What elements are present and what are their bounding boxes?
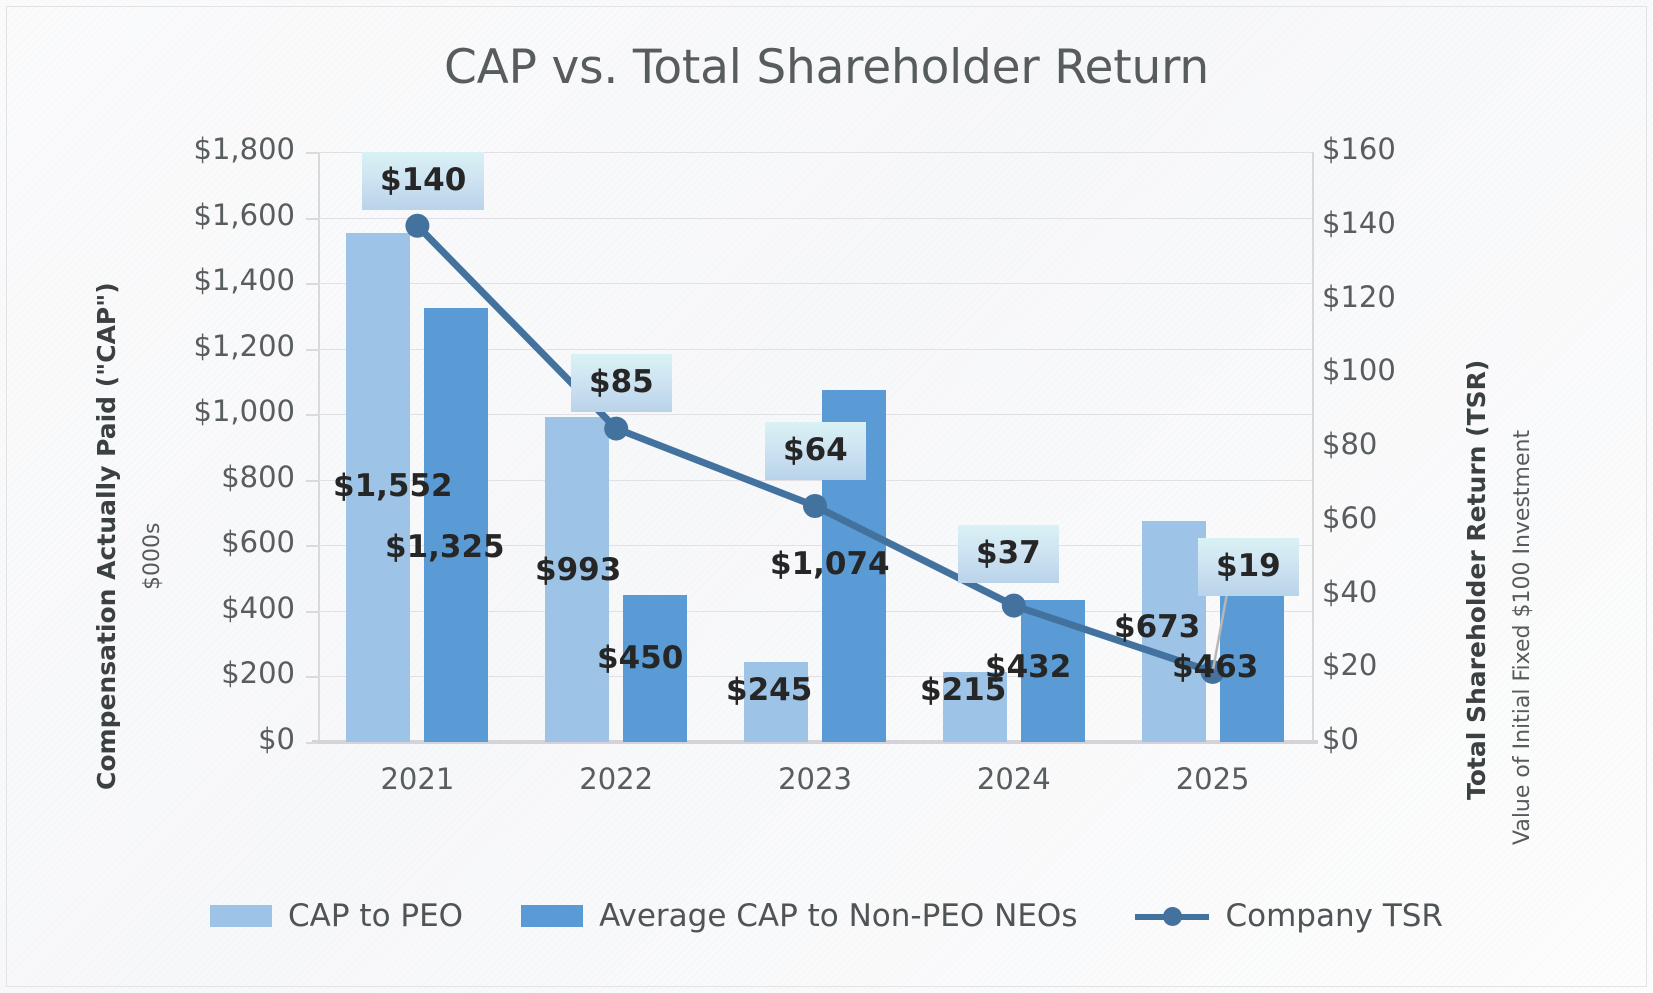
y-axis-tick xyxy=(306,218,318,220)
chart-canvas: CAP vs. Total Shareholder Return Compens… xyxy=(0,0,1653,993)
plot-right-edge xyxy=(1312,152,1314,742)
data-label-cap-to-peo: $993 xyxy=(535,552,621,588)
data-label-avg-cap-to-non-peo-neos: $1,074 xyxy=(770,546,890,582)
data-label-company-tsr: $37 xyxy=(958,525,1059,583)
legend-item-label: Company TSR xyxy=(1225,898,1442,934)
legend-swatch-cap-to-peo xyxy=(210,905,272,927)
y-axis-tick xyxy=(306,349,318,351)
legend-marker-icon xyxy=(1163,907,1182,926)
y-axis-tick-label: $1,200 xyxy=(194,329,295,363)
left-axis-subtitle: $000s xyxy=(140,523,165,590)
left-axis-title: Compensation Actually Paid ("CAP") xyxy=(92,282,121,790)
legend-item-label: CAP to PEO xyxy=(288,898,463,934)
legend-item[interactable]: Company TSR xyxy=(1135,898,1442,934)
data-label-avg-cap-to-non-peo-neos: $463 xyxy=(1172,649,1258,685)
y-axis-tick xyxy=(306,480,318,482)
tsr-data-point xyxy=(604,417,628,441)
data-label-cap-to-peo: $673 xyxy=(1114,609,1200,645)
right-axis-subtitle: Value of Initial Fixed $100 Investment xyxy=(1510,430,1535,845)
x-axis-tick-label: 2025 xyxy=(1113,762,1313,796)
legend-item[interactable]: Average CAP to Non-PEO NEOs xyxy=(521,898,1077,934)
y-axis-tick-label: $1,400 xyxy=(194,263,295,297)
data-label-company-tsr: $64 xyxy=(765,422,866,480)
data-label-avg-cap-to-non-peo-neos: $1,325 xyxy=(385,529,505,565)
data-label-cap-to-peo: $1,552 xyxy=(333,468,453,504)
x-axis-tick-label: 2023 xyxy=(715,762,915,796)
legend-item[interactable]: CAP to PEO xyxy=(210,898,463,934)
y-axis-tick-label: $200 xyxy=(221,656,295,690)
y-axis-tick xyxy=(306,611,318,613)
y-axis-tick-label: $0 xyxy=(258,722,295,756)
y2-axis-tick-label: $60 xyxy=(1322,501,1377,535)
tsr-data-point xyxy=(405,214,429,238)
y-axis-tick xyxy=(306,545,318,547)
data-label-avg-cap-to-non-peo-neos: $450 xyxy=(597,640,683,676)
data-label-company-tsr: $19 xyxy=(1198,538,1299,596)
tsr-data-point xyxy=(803,494,827,518)
x-axis-tick-label: 2021 xyxy=(317,762,517,796)
y2-axis-tick-label: $120 xyxy=(1322,280,1396,314)
y-axis-tick-label: $400 xyxy=(221,591,295,625)
y-axis-tick-label: $1,600 xyxy=(194,198,295,232)
y-axis-tick-label: $1,800 xyxy=(194,132,295,166)
y-axis-tick xyxy=(306,283,318,285)
y2-axis-tick-label: $140 xyxy=(1322,206,1396,240)
y-axis-tick-label: $800 xyxy=(221,460,295,494)
x-axis-tick-label: 2024 xyxy=(914,762,1114,796)
legend-line-marker-company-tsr xyxy=(1135,905,1209,927)
data-label-company-tsr: $85 xyxy=(571,354,672,412)
data-label-avg-cap-to-non-peo-neos: $432 xyxy=(985,649,1071,685)
data-label-cap-to-peo: $245 xyxy=(726,672,812,708)
legend-item-label: Average CAP to Non-PEO NEOs xyxy=(599,898,1077,934)
chart-title: CAP vs. Total Shareholder Return xyxy=(0,40,1653,95)
y2-axis-tick-label: $40 xyxy=(1322,575,1377,609)
y2-axis-tick-label: $160 xyxy=(1322,132,1396,166)
y2-axis-tick-label: $100 xyxy=(1322,353,1396,387)
y-axis-tick xyxy=(306,742,318,744)
y-axis-tick xyxy=(306,676,318,678)
legend-swatch-avg-cap-to-non-peo-neos xyxy=(521,905,583,927)
data-label-company-tsr: $140 xyxy=(362,152,484,210)
y-axis-tick-label: $1,000 xyxy=(194,394,295,428)
y2-axis-tick-label: $80 xyxy=(1322,427,1377,461)
y2-axis-tick-label: $20 xyxy=(1322,648,1377,682)
x-axis-tick-label: 2022 xyxy=(516,762,716,796)
chart-legend: CAP to PEOAverage CAP to Non-PEO NEOsCom… xyxy=(0,898,1653,934)
y-axis-tick xyxy=(306,414,318,416)
y-axis-tick xyxy=(306,152,318,154)
y-axis-tick-label: $600 xyxy=(221,525,295,559)
tsr-data-point xyxy=(1002,594,1026,618)
y2-axis-tick-label: $0 xyxy=(1322,722,1359,756)
right-axis-title: Total Shareholder Return (TSR) xyxy=(1462,360,1491,800)
